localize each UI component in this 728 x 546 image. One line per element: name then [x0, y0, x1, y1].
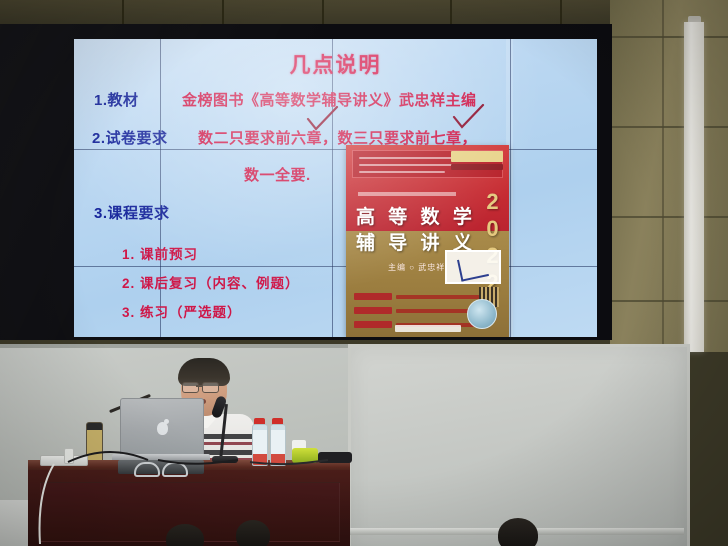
- book-brand-logo: [451, 151, 503, 162]
- slide-title: 几点说明: [74, 49, 597, 79]
- audience-head: [498, 518, 538, 546]
- panel-seam: [510, 39, 511, 337]
- book-feature-tag: [354, 321, 392, 328]
- book-kicker-line: [358, 192, 456, 196]
- audience-head: [236, 520, 270, 546]
- slide-line-2-label: 2.试卷要求: [92, 127, 168, 148]
- lecture-hall-screenshot: 几点说明 1.教材 金榜图书《高等数学辅导讲义》武忠祥主编 2.试卷要求 数二只…: [0, 0, 728, 546]
- book-authenticity-seal: [467, 299, 497, 329]
- book-feature-tag: [354, 307, 392, 314]
- book-stamp-ink: [457, 254, 489, 281]
- presentation-slide: 几点说明 1.教材 金榜图书《高等数学辅导讲义》武忠祥主编 2.试卷要求 数二只…: [74, 39, 597, 337]
- panel-seam: [160, 39, 161, 337]
- book-brand-subtitle: [451, 164, 503, 170]
- panel-seam: [74, 149, 597, 150]
- slide-bullet-3: 3. 练习（严选题）: [122, 301, 242, 321]
- back-wall-edge: [0, 344, 352, 348]
- book-title-line-1: 高 等 数 学: [356, 205, 476, 231]
- side-wall-seam: [610, 36, 728, 38]
- panel-seam: [74, 266, 597, 267]
- slide-line-4-label: 3.课程要求: [94, 202, 170, 223]
- hanging-cable: [20, 462, 80, 546]
- panel-seam: [332, 39, 333, 337]
- eyeglasses-bridge: [196, 385, 202, 387]
- eyeglasses-icon: [202, 382, 219, 393]
- slide-bullet-1: 1. 课前预习: [122, 243, 198, 263]
- side-wall-seam: [610, 300, 728, 302]
- book-stamp: [445, 250, 501, 284]
- eyeglasses-icon: [182, 382, 199, 393]
- book-author: 主编 ○ 武忠祥: [388, 262, 445, 273]
- slide-bullet-2: 2. 课后复习（内容、例题）: [122, 272, 300, 292]
- book-publisher-logo: [395, 325, 461, 332]
- slide-line-1-label: 1.教材: [94, 89, 139, 110]
- book-feature-tag: [354, 293, 392, 300]
- side-wall-seam: [610, 216, 728, 218]
- slide-glare: [74, 39, 597, 337]
- side-wall-seam: [610, 126, 728, 128]
- whiteboard: [348, 344, 690, 546]
- side-wall-seam: [662, 0, 664, 352]
- slide-line-1-text: 金榜图书《高等数学辅导讲义》武忠祥主编: [182, 89, 477, 110]
- slide-line-3-text: 数一全要.: [244, 164, 311, 185]
- book-cover-image: 高 等 数 学 辅 导 讲 义 2022 主编 ○ 武忠祥: [346, 145, 509, 337]
- fluorescent-light-column: [684, 22, 704, 352]
- audience-head: [166, 524, 204, 546]
